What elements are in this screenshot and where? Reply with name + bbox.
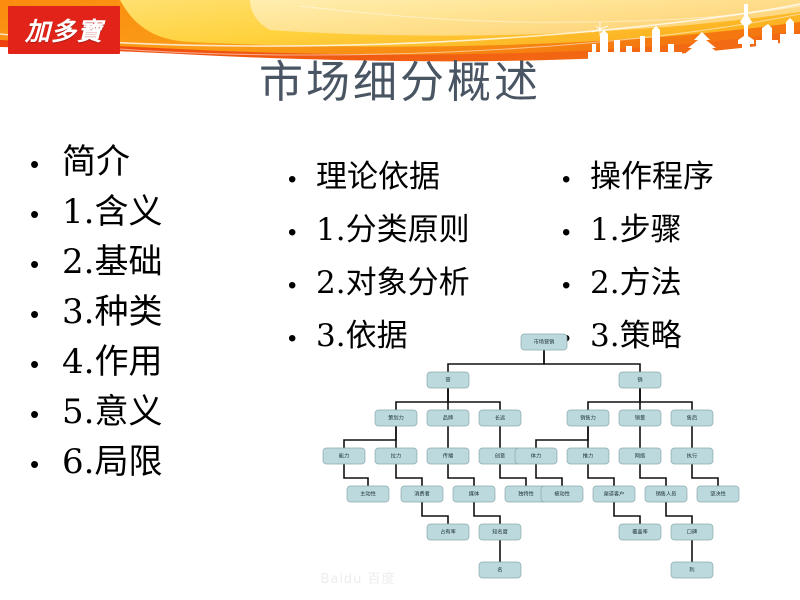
org-chart-edge [396,464,422,486]
org-chart-node-label: 营 [445,375,450,383]
org-chart-node: 占有率 [427,524,469,540]
org-chart-node-label: 名 [497,565,502,573]
org-chart-node-label: 坚决性 [710,489,726,497]
bullet-column-intro: 简介 1.含义 2.基础 3.种类 4.作用 5.意义 6.局限 [30,138,162,488]
bullet-icon [30,240,62,288]
list-item-label: 5.意义 [62,388,162,436]
org-chart-edge [536,464,562,486]
org-chart-edge [614,502,640,524]
list-item: 简介 [30,138,162,188]
org-chart-node-label: 渠道客户 [604,489,625,497]
list-item-label: 2.对象分析 [316,258,470,308]
org-chart-node: 传播 [427,448,469,464]
org-chart-edge [344,426,396,448]
bullet-icon [562,208,590,258]
org-chart-node: 售后 [671,410,713,426]
org-chart-node: 能力 [323,448,365,464]
list-item: 5.意义 [30,388,162,438]
org-chart-edge [640,388,692,410]
list-item-label: 1.步骤 [590,205,682,255]
org-chart-node: 市场营销 [521,334,567,350]
org-chart-node-label: 售后 [687,413,697,421]
bullet-icon [288,261,316,311]
org-chart-edge [588,388,640,410]
org-chart-svg: 市场营销营销策划力品牌长远销售力销量售后能力拉力传播创意体力推力网络执行主动性消… [288,330,800,596]
list-item: 1.分类原则 [288,205,470,258]
org-chart-node: 消费者 [401,486,443,502]
org-chart-node-label: 媒体 [469,489,480,497]
org-chart-node-label: 覆盖率 [632,527,648,535]
list-item-label: 4.作用 [62,338,162,386]
org-chart-edge [448,464,474,486]
org-chart-node: 销售人员 [645,486,687,502]
org-chart: 市场营销营销策划力品牌长远销售力销量售后能力拉力传播创意体力推力网络执行主动性消… [288,330,800,596]
org-chart-node: 推力 [567,448,609,464]
bullet-icon [288,155,316,205]
org-chart-node: 口碑 [671,524,713,540]
org-chart-node-label: 执行 [687,451,697,459]
org-chart-node: 销量 [619,410,661,426]
org-chart-node: 坚决性 [697,486,739,502]
bullet-icon [30,290,62,338]
list-item: 理论依据 [288,152,470,205]
org-chart-node-label: 销量 [635,413,645,421]
list-item: 6.局限 [30,438,162,488]
org-chart-node: 体力 [515,448,557,464]
org-chart-edge [666,502,692,524]
org-chart-node-label: 被动性 [554,489,570,497]
org-chart-node-label: 品牌 [443,413,453,421]
org-chart-edge [536,426,588,448]
org-chart-edge [588,464,614,486]
list-item-label: 理论依据 [316,152,440,202]
org-chart-node: 被动性 [541,486,583,502]
org-chart-node-label: 体力 [531,451,541,459]
org-chart-node: 执行 [671,448,713,464]
org-chart-nodes: 市场营销营销策划力品牌长远销售力销量售后能力拉力传播创意体力推力网络执行主动性消… [323,334,739,578]
org-chart-node: 名 [479,562,521,578]
list-item-label: 简介 [62,138,130,186]
org-chart-node: 长远 [479,410,521,426]
org-chart-node-label: 口碑 [687,527,697,535]
org-chart-node-label: 市场营销 [534,337,555,345]
org-chart-node: 销售力 [567,410,609,426]
bullet-icon [288,208,316,258]
org-chart-node-label: 独特性 [518,489,534,497]
org-chart-node-label: 销售力 [580,413,596,421]
org-chart-node-label: 主动性 [360,489,376,497]
bullet-icon [562,155,590,205]
org-chart-node: 渠道客户 [593,486,635,502]
list-item: 1.含义 [30,188,162,238]
list-item: 2.对象分析 [288,258,470,311]
org-chart-node: 营 [427,372,469,388]
list-item-label: 1.分类原则 [316,205,470,255]
org-chart-edge [344,464,368,486]
org-chart-node: 媒体 [453,486,495,502]
list-item-label: 3.种类 [62,288,162,336]
org-chart-edge [692,464,718,486]
org-chart-node-label: 消费者 [414,489,430,497]
brand-logo-text: 加多寶 [25,12,103,48]
list-item-label: 2.方法 [590,258,682,308]
org-chart-node: 利 [671,562,713,578]
org-chart-node: 知名度 [479,524,521,540]
bullet-icon [30,190,62,238]
org-chart-node-label: 拉力 [391,451,401,459]
org-chart-node-label: 推力 [583,451,593,459]
org-chart-node: 覆盖率 [619,524,661,540]
org-chart-node-label: 利 [689,565,694,573]
org-chart-node-label: 占有率 [440,527,456,535]
org-chart-node-label: 销 [637,375,642,383]
bullet-icon [30,140,62,188]
org-chart-node-label: 策划力 [388,413,404,421]
org-chart-node-label: 销售人员 [656,489,677,497]
list-item-label: 1.含义 [62,188,162,236]
org-chart-node-label: 知名度 [492,527,508,535]
org-chart-node: 主动性 [347,486,389,502]
list-item: 4.作用 [30,338,162,388]
bullet-icon [30,390,62,438]
org-chart-node-label: 创意 [495,451,505,459]
org-chart-edge [640,464,666,486]
org-chart-edge [544,350,640,372]
org-chart-edge [396,388,448,410]
page-title: 市场细分概述 [0,46,800,110]
list-item-label: 2.基础 [62,238,162,286]
org-chart-edge [448,388,500,410]
list-item-label: 操作程序 [590,152,714,202]
org-chart-edge [500,464,526,486]
org-chart-node-label: 长远 [495,413,505,421]
org-chart-node: 品牌 [427,410,469,426]
watermark: Baidu 百度 [300,566,416,588]
org-chart-edge [448,350,544,372]
list-item: 2.方法 [562,258,714,311]
bullet-icon [30,440,62,488]
list-item: 1.步骤 [562,205,714,258]
org-chart-node: 策划力 [375,410,417,426]
org-chart-node-label: 网络 [635,451,645,459]
list-item-label: 6.局限 [62,438,162,486]
list-item: 2.基础 [30,238,162,288]
bullet-list-intro: 简介 1.含义 2.基础 3.种类 4.作用 5.意义 6.局限 [30,138,162,488]
list-item: 操作程序 [562,152,714,205]
org-chart-node-label: 能力 [339,451,349,459]
bullet-icon [562,261,590,311]
org-chart-node: 销 [619,372,661,388]
org-chart-edge [422,502,448,524]
org-chart-edge [474,502,500,524]
org-chart-node-label: 传播 [443,451,454,459]
org-chart-node: 网络 [619,448,661,464]
bullet-icon [30,340,62,388]
list-item: 3.种类 [30,288,162,338]
org-chart-node: 拉力 [375,448,417,464]
